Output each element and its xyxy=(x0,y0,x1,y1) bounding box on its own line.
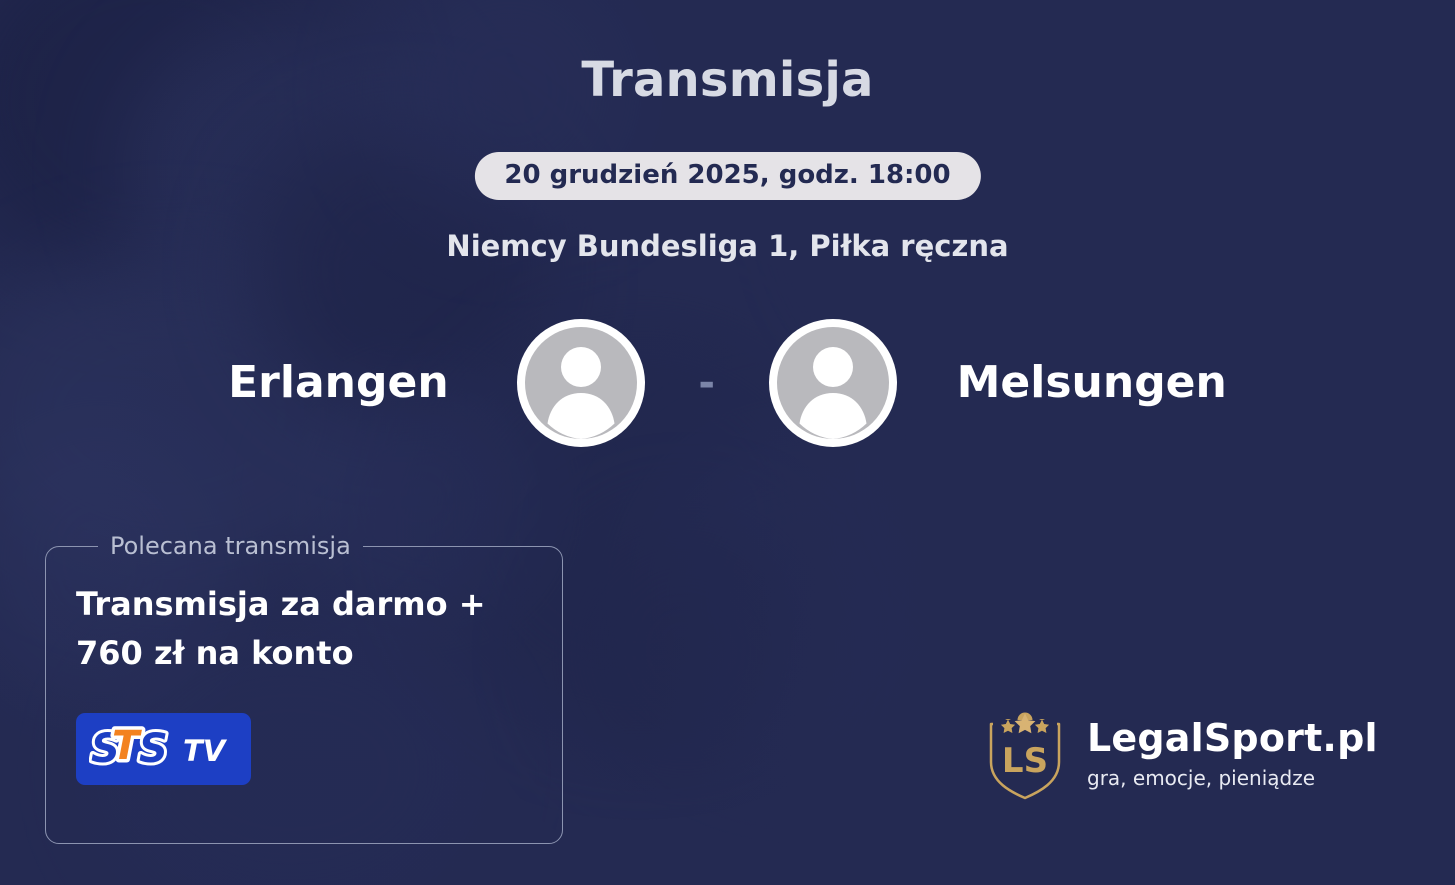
brand-tagline: gra, emocje, pieniądze xyxy=(1087,766,1378,790)
home-team: Erlangen xyxy=(228,317,647,449)
sts-tv-wordmark-icon: S S S S T T TV xyxy=(89,723,239,775)
match-row: Erlangen - Melsungen xyxy=(0,310,1455,455)
promo-headline: Transmisja za darmo + 760 zł na konto xyxy=(76,580,532,677)
league-label: Niemcy Bundesliga 1, Piłka ręczna xyxy=(0,229,1455,263)
person-placeholder-icon xyxy=(767,317,899,449)
away-team: Melsungen xyxy=(767,317,1227,449)
sts-tv-logo[interactable]: S S S S T T TV xyxy=(76,713,251,785)
legalsport-brand[interactable]: LS LegalSport.pl gra, emocje, pieniądze xyxy=(985,708,1378,800)
match-datetime-badge: 20 grudzień 2025, godz. 18:00 xyxy=(474,152,980,200)
brand-name: LegalSport.pl xyxy=(1087,718,1378,759)
score-separator: - xyxy=(647,363,767,403)
page-title: Transmisja xyxy=(0,52,1455,108)
svg-text:TV: TV xyxy=(183,734,228,768)
recommended-broadcast-legend: Polecana transmisja xyxy=(98,532,363,560)
recommended-broadcast-card[interactable]: Polecana transmisja Transmisja za darmo … xyxy=(45,532,563,844)
svg-text:LS: LS xyxy=(1002,741,1048,781)
broadcast-card: Transmisja 20 grudzień 2025, godz. 18:00… xyxy=(0,0,1455,885)
svg-text:T: T xyxy=(112,723,142,769)
away-team-name: Melsungen xyxy=(957,357,1227,408)
home-team-name: Erlangen xyxy=(228,357,449,408)
person-placeholder-icon xyxy=(515,317,647,449)
svg-text:S: S xyxy=(139,726,168,772)
legalsport-shield-icon: LS xyxy=(985,708,1065,800)
